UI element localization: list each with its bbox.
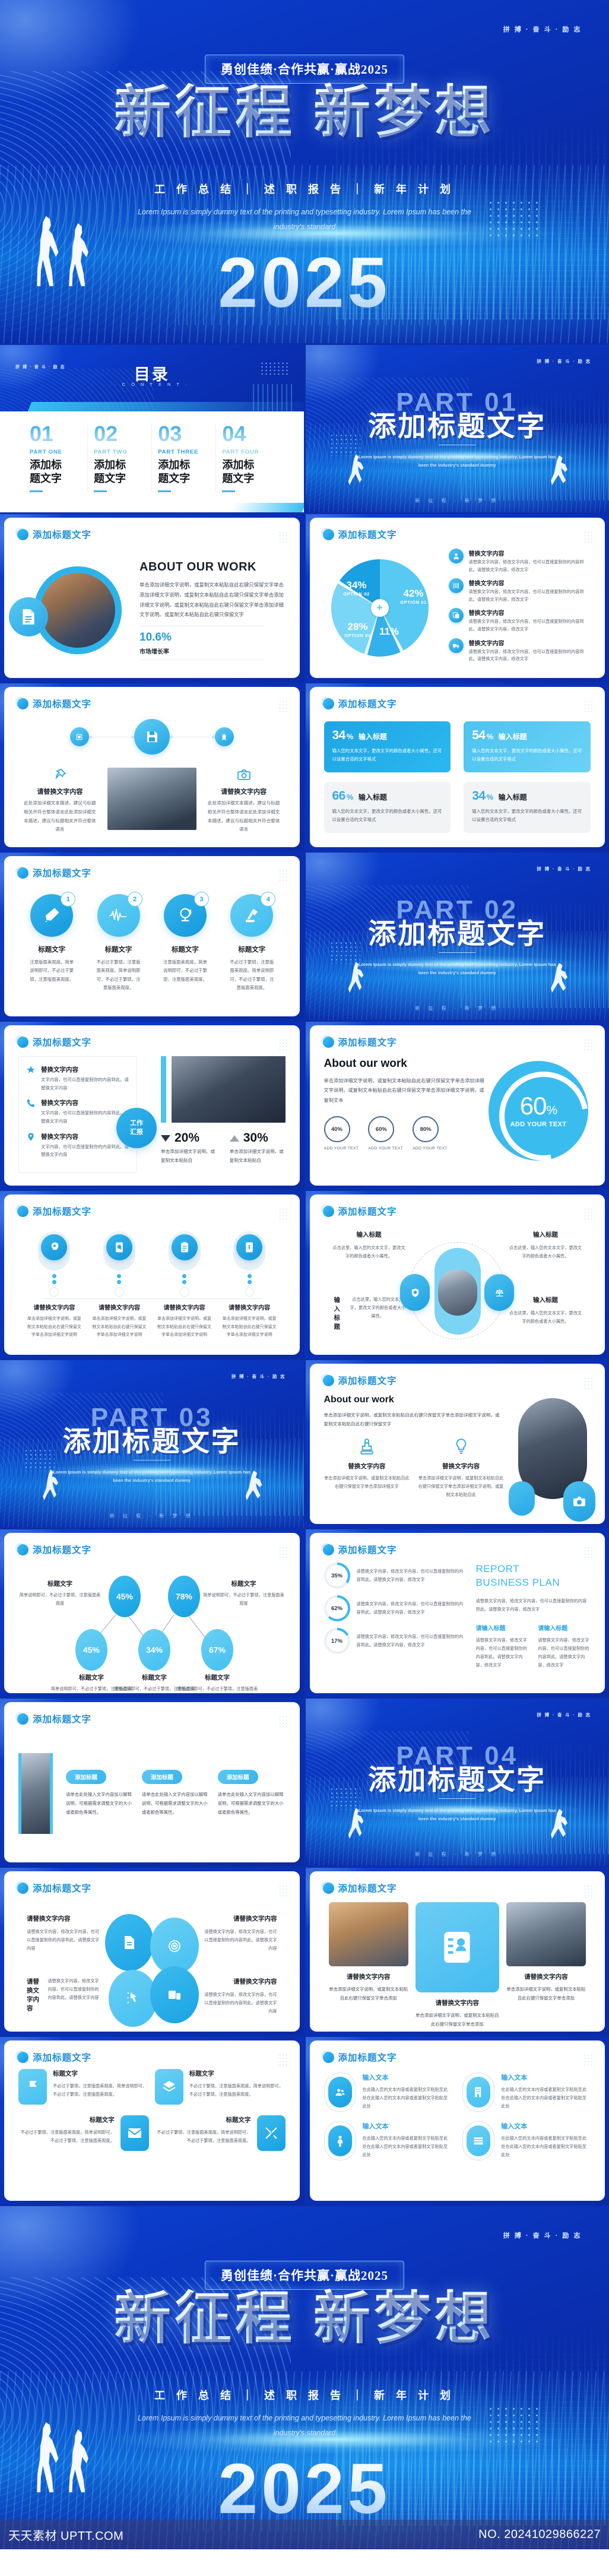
pie-value: 28% — [337, 621, 379, 633]
globe-icon: 3 — [164, 894, 207, 937]
document-icon[interactable] — [105, 1914, 154, 1971]
balance-scale-icon[interactable] — [484, 1274, 514, 1311]
ring-unit: % — [338, 1638, 342, 1645]
square-text[interactable]: 标题文字 不必过于繁琐，注意版面美观度。简单说明即可，不必过于繁琐，注意版面美观… — [18, 2115, 115, 2145]
step-item[interactable]: 请替换文字内容 单击添加详细文字说明，或复制文本粘贴自此右键只保留文字单击添加详… — [27, 1231, 82, 1339]
tools-icon[interactable] — [257, 2115, 286, 2151]
connector-line — [89, 737, 134, 737]
report-column[interactable]: 请输入标题 请替换文字内容，修改文字内容，也可以直接复制你的内容到此。请替换文字… — [476, 1623, 529, 1669]
petal-quadrant-bottom-right[interactable]: 请替换文字内容 请替换文字内容，修改文字内容，也可以直接复制你的内容到此。请替换… — [201, 1977, 277, 2016]
watermark-footer: 天天素材 UPTT.COM NO. 20241029866227 — [0, 2520, 609, 2549]
lamp-icon: 4 — [230, 894, 273, 937]
quadrant-desc: 点击这里，输入您的文本文字，更改文字的颜色或者大小属性。 — [507, 1309, 583, 1326]
report-heading-line1: REPORT — [476, 1563, 520, 1574]
dot-grid-decor — [583, 1884, 593, 1897]
bullet-dot-icon — [323, 698, 334, 709]
toc-number: 03 — [158, 423, 210, 445]
icon-circle-row: 1 标题文字 注意版面美观度。简单说明即可，不必过于繁琐，注意版面美观度。 2 … — [18, 894, 286, 993]
item-desc: 在此输入您的文本内容或者复制文字粘贴至此处在此输入您的文本内容或者复制文字粘贴至… — [501, 2086, 591, 2111]
plus-icon: + — [371, 599, 389, 617]
list-item[interactable]: 62% 请替换文字内容，修改文字内容，也可以直接复制你的内容到此。请替换文字内容… — [324, 1595, 467, 1621]
stat-card-grid: 34%输入标题 输入您的文本文字，更改文字的颜色或者大小属性。还可以设置合适的文… — [324, 721, 591, 833]
step-item[interactable]: 请替换文字内容 单击添加详细文字说明，或复制文本粘贴自此右键只保留文字单击添加详… — [222, 1231, 277, 1339]
star-icon — [26, 1065, 36, 1092]
quadrant-title: 请替换文字内容 — [201, 1977, 277, 1986]
photo-column[interactable]: 请替换文字内容 单击添加详细文字说明，或复制文本粘贴自此右键只保留文字单击添加 — [329, 1902, 408, 2003]
slide-header: 添加标题文字 — [17, 866, 91, 879]
dot-grid-decor — [583, 2054, 593, 2067]
slide-petal-quadrants[interactable]: 添加标题文字 请替换文字内容 请替换文字内容，修改文字内容，也可以直接复制你的内… — [0, 1868, 304, 2035]
step-number: 4 — [261, 892, 275, 907]
stat-value: 20% — [175, 1131, 199, 1145]
mail-icon[interactable] — [120, 2115, 149, 2151]
bullet-dot-icon — [17, 1544, 28, 1555]
section-title: 添加标题文字 — [0, 1418, 304, 1459]
toc-number: 02 — [94, 423, 145, 445]
quadrant-desc: 点击这里，输入您的文本文字，更改文字的颜色或者大小属性。 — [331, 1244, 407, 1260]
slide-header: 添加标题文字 — [323, 1881, 397, 1894]
toc-underline — [30, 490, 43, 492]
bullet-dot-icon — [17, 867, 28, 879]
column-title: 请替换文字内容 — [506, 1972, 586, 1981]
step-desc: 单击添加详细文字说明，或复制文本粘贴自此右键只保留文字单击添加详细文字说明 — [222, 1315, 277, 1339]
timeline-pin — [115, 1287, 124, 1297]
item-title: 替换文字内容 — [41, 1065, 129, 1074]
hero-year: 2025 — [218, 2453, 391, 2524]
camera-icon[interactable] — [563, 1481, 595, 1522]
pie-label-option-03: 28% OPTION 03 — [337, 621, 379, 638]
hero-title: 新征程 新梦想 — [0, 77, 609, 148]
column-desc: 此处添加详细文本描述，建议与标题相关并符合整体语言此处添加详细文本描述，建议与标… — [202, 799, 286, 834]
slide-section-part-01[interactable]: 拼 搏 · 奋 斗 · 励 志 PART 01 添加标题文字 Lorem Ips… — [306, 345, 609, 512]
quadrant-top-right[interactable]: 输入标题 点击这里，输入您的文本文字，更改文字的颜色或者大小属性。 — [507, 1230, 583, 1260]
item-title: 替换文字内容 — [41, 1132, 129, 1141]
slide-about-portrait[interactable]: 添加标题文字 About our work 单击添加详细文字说明，或复制文本粘贴… — [306, 1360, 609, 1528]
ring-unit: % — [338, 1573, 342, 1579]
quadrant-bottom-left[interactable]: 输入标题 点击这里，输入您的文本文字，更改文字的颜色或者大小属性。 — [331, 1295, 407, 1336]
column-desc: 单击添加详细文字说明，或复制文本粘贴自此右键只保留文字单击添加详细文字 — [324, 1474, 410, 1491]
about-heading: ABOUT OUR WORK — [139, 560, 286, 574]
square-text[interactable]: 标题文字 不必过于繁琐，注意版面美观度。简单说明即可，不必过于繁琐，注意版面美观… — [189, 2069, 286, 2099]
slide-title: 添加标题文字 — [33, 528, 91, 541]
step-number: 3 — [194, 892, 209, 907]
list-item[interactable]: 35% 请替换文字内容，修改文字内容，也可以直接复制你的内容到此。请替换文字内容… — [324, 1563, 467, 1589]
stat-row: 20% 单击添加详细文字说明，或复制文本粘贴自 30% 单击添加详细文字说明，或… — [161, 1131, 286, 1165]
bulb-icon — [418, 1438, 504, 1456]
toc-item-title: 添加标题文字 — [30, 458, 64, 485]
stamp-icon — [324, 1438, 410, 1456]
caret-up-icon — [230, 1135, 239, 1142]
slide-header: 添加标题文字 — [323, 2051, 397, 2064]
column-title: 请替换文字内容 — [202, 787, 286, 796]
slide-header: 添加标题文字 — [17, 1543, 91, 1556]
slide-title: 添加标题文字 — [338, 1374, 397, 1387]
list-item[interactable]: 替换文字内容 请替换文字内容，修改文字内容，也可以直接复制你的内容到此。请替换文… — [449, 578, 588, 603]
section-title: 添加标题文字 — [306, 1757, 609, 1798]
hero-tagline: 拼 搏 · 奋 斗 · 励 志 — [503, 24, 582, 34]
toc-part-label: PART FOUR — [222, 449, 274, 455]
toc-item-03[interactable]: 03 PART THREE 添加标题文字 — [152, 423, 216, 492]
step-item[interactable]: 请替换文字内容 单击添加详细文字说明，或复制文本粘贴自此右键只保留文字单击添加详… — [92, 1231, 147, 1339]
divider-rule — [439, 952, 475, 953]
center-photo — [434, 1248, 481, 1335]
slide-title: 添加标题文字 — [33, 1712, 91, 1725]
mini-ring-item[interactable]: 80% ADD YOUR TEXT — [413, 1116, 448, 1152]
slide-header: 添加标题文字 — [17, 528, 91, 541]
slide-three-node-timeline[interactable]: 添加标题文字 — [0, 683, 304, 851]
photo-frame-icon[interactable] — [70, 727, 89, 746]
bullet-dot-icon — [17, 1883, 28, 1894]
tag-badge[interactable]: 添加标题 — [66, 1770, 106, 1784]
slide-four-icon-circles[interactable]: 添加标题文字 1 标题文字 注意版面美观度。简单说明即可，不必过于繁琐，注意版面… — [0, 853, 304, 1020]
camera-icon — [202, 768, 286, 782]
dot-grid-decor — [278, 531, 288, 544]
hero-year: 2025 — [218, 247, 391, 318]
bubble-label: 标题文字 简单说明即可，不必过于繁琐，注意版面美观度 — [18, 1579, 101, 1608]
item-title: 替换文字内容 — [469, 638, 588, 647]
stat-card[interactable]: 34%输入标题 输入您的文本文字，更改文字的颜色或者大小属性。还可以设置合适的文… — [464, 782, 591, 833]
stat-value: 30% — [243, 1131, 268, 1145]
slide-header: 添加标题文字 — [323, 1543, 397, 1556]
slide-title: 添加标题文字 — [338, 697, 397, 710]
slide-title: 添加标题文字 — [338, 1205, 397, 1218]
ribbon-award-icon[interactable] — [215, 727, 234, 746]
petal-quadrant-top-left[interactable]: 请替换文字内容 请替换文字内容，修改文字内容，也可以直接复制你的内容到此。请替换… — [27, 1914, 103, 1953]
column-desc: 单击添加详细文字说明，或复制文本粘贴自此右键只保留文字单击添加 — [415, 2011, 499, 2029]
bubble-value[interactable]: 78% — [168, 1576, 200, 1617]
ring-icon-item[interactable]: 输入文本 在此输入您的文本内容或者复制文字粘贴至此处在此输入您的文本内容或者复制… — [462, 2121, 591, 2160]
report-column[interactable]: 请输入标题 请替换文字内容，修改文字内容，也可以直接复制你的内容到此。请替换文字… — [538, 1623, 591, 1669]
tag-column[interactable]: 添加标题 请单击此处输入文字内容加以解释说明，可根据需求调整文字的大小或者颜色等… — [218, 1770, 286, 1817]
ring-unit: % — [338, 1605, 342, 1612]
hero-tagline: 拼 搏 · 奋 斗 · 励 志 — [503, 2230, 582, 2240]
step-title: 请替换文字内容 — [157, 1303, 212, 1311]
list-item[interactable]: 替换文字内容 请替换文字内容，修改文字内容，也可以直接复制你的内容到此。请替换文… — [449, 638, 588, 663]
stat-card[interactable]: 66%输入标题 输入您的文本文字，更改文字的颜色或者大小属性。还可以设置合适的文… — [324, 782, 451, 833]
column-desc: 请单击此处输入文字内容加以解释说明，可根据需求调整文字的大小或者颜色等属性。 — [66, 1791, 134, 1817]
step-title: 请替换文字内容 — [27, 1303, 82, 1311]
bullet-dot-icon — [323, 2052, 334, 2063]
item-desc: 文字内容，也可以直接复制你的内容到此。请替换文字内容 — [41, 1109, 129, 1125]
slide-header: 添加标题文字 — [17, 1712, 91, 1725]
building-icon — [467, 2077, 490, 2108]
item-title: 标题文字 — [88, 945, 149, 954]
list-item[interactable]: 替换文字内容 文字内容，也可以直接复制你的内容到此。请替换文字内容 — [26, 1098, 129, 1125]
item-title: 输入文本 — [363, 2073, 452, 2082]
timeline-col-right[interactable]: 请替换文字内容 此处添加详细文本描述，建议与标题相关并符合整体语言此处添加详细文… — [202, 768, 286, 834]
stat-desc: 单击添加详细文字说明，或复制文本粘贴自 — [161, 1148, 217, 1165]
square-text[interactable]: 标题文字 不必过于繁琐，注意版面美观度。简单说明即可，不必过于繁琐，注意版面美观… — [53, 2069, 149, 2099]
ring-icon-item[interactable]: 输入文本 在此输入您的文本内容或者复制文字粘贴至此处在此输入您的文本内容或者复制… — [462, 2073, 591, 2112]
list-item[interactable]: 替换文字内容 请替换文字内容，修改文字内容，也可以直接复制你的内容到此。请替换文… — [449, 549, 588, 573]
quadrant-title: 输入标题 — [507, 1230, 583, 1239]
quadrant-bottom-right[interactable]: 输入标题 点击这里，输入您的文本文字，更改文字的颜色或者大小属性。 — [507, 1295, 583, 1326]
item-title: 替换文字内容 — [469, 578, 588, 587]
label-title: 标题文字 — [18, 1579, 101, 1588]
node-row — [18, 719, 286, 755]
pie-value: 42% — [392, 588, 436, 600]
slide-title: 添加标题文字 — [338, 1881, 397, 1894]
icon-circle-item[interactable]: 2 标题文字 不必过于繁琐，注意版面美观度。简单说明即可，不必过于繁琐，注意版面… — [88, 894, 149, 993]
dot-grid-decor — [278, 1715, 288, 1728]
flag-icon[interactable] — [18, 2069, 47, 2105]
hero-banner-bottom: 拼 搏 · 奋 斗 · 励 志 勇创佳绩·合作共赢·赢战2025 新征程 新梦想… — [0, 2206, 609, 2549]
team-photo — [34, 566, 122, 654]
slide-image-with-tags[interactable]: 添加标题文字 添加标题 请单击此处输入文字内容加以解释说明，可根据需求调整文字的… — [0, 1699, 304, 1866]
slide-header: 添加标题文字 — [17, 2051, 91, 2064]
photo-image — [329, 1902, 408, 1966]
pie-value: 34% — [334, 579, 380, 591]
section-title: 添加标题文字 — [306, 403, 609, 444]
item-title: 标题文字 — [221, 945, 283, 954]
stat-title: 输入标题 — [359, 731, 387, 742]
about-heading: About our work — [324, 1395, 505, 1405]
site-watermark: 天天素材 UPTT.COM — [8, 2526, 123, 2543]
mini-ring-value: 60% — [368, 1116, 394, 1142]
photo-with-bar — [161, 1056, 286, 1123]
step-number: 1 — [61, 892, 75, 907]
item-title: 标题文字 — [154, 945, 215, 954]
dot-grid-decor — [583, 1038, 593, 1051]
slide-title: 添加标题文字 — [33, 2051, 91, 2064]
ring-desc: 请替换文字内容，修改文字内容，也可以直接复制你的内容到此。请替换文字内容，修改文… — [357, 1633, 467, 1649]
mini-ring-row: 40% ADD YOUR TEXT 60% ADD YOUR TEXT 80% … — [324, 1116, 489, 1152]
report-heading-line2: BUSINESS PLAN — [476, 1577, 560, 1588]
people-icon — [328, 2077, 352, 2108]
bullet-dot-icon — [17, 698, 28, 709]
list-item[interactable]: 17% 请替换文字内容，修改文字内容，也可以直接复制你的内容到此。请替换文字内容… — [324, 1628, 467, 1654]
accent-stripe-decor — [230, 503, 303, 512]
step-desc: 单击添加详细文字说明，或复制文本粘贴自此右键只保留文字单击添加详细文字说明 — [27, 1315, 82, 1339]
accent-stripe-decor — [26, 402, 304, 411]
dot-grid-decor — [583, 700, 593, 713]
slide-rounded-square-icons[interactable]: 添加标题文字 标题文字 不必过于繁琐，注意版面美观度。简单说明即可，不必过于繁琐… — [0, 2037, 304, 2204]
tag-column[interactable]: 添加标题 请单击此处输入文字内容加以解释说明，可根据需求调整文字的大小或者颜色等… — [66, 1770, 134, 1817]
slide-four-ring-icons[interactable]: 添加标题文字 输入文本 在此输入您的文本内容或者复制文字粘贴至此处在此输入您的文… — [306, 2037, 609, 2204]
slide-title: 添加标题文字 — [33, 1035, 91, 1048]
step-title: 请替换文字内容 — [222, 1303, 277, 1311]
item-desc: 不必过于繁琐，注意版面美观度。简单说明即可，不必过于繁琐，注意版面美观度。 — [18, 2128, 115, 2145]
bullet-dot-icon — [323, 1375, 334, 1386]
donut-chart: 60% ADD YOUR TEXT — [489, 1061, 588, 1161]
bullet-dot-icon — [323, 1037, 334, 1048]
item-title: 替换文字内容 — [469, 549, 588, 557]
progress-ring-list: 35% 请替换文字内容，修改文字内容，也可以直接复制你的内容到此。请替换文字内容… — [324, 1563, 467, 1687]
bullet-dot-icon — [323, 1544, 334, 1555]
dot-grid-decor — [583, 531, 593, 544]
slide-header: 添加标题文字 — [17, 1881, 91, 1894]
phone-icon — [26, 1098, 36, 1125]
slide-section-part-04[interactable]: 拼 搏 · 奋 斗 · 励 志 PART 04 添加标题文字 Lorem Ips… — [306, 1699, 609, 1866]
toc-item-04[interactable]: 04 PART FOUR 添加标题文字 — [216, 423, 280, 492]
ring-icon-item[interactable]: 输入文本 在此输入您的文本内容或者复制文字粘贴至此处在此输入您的文本内容或者复制… — [324, 2073, 452, 2112]
percent-unit: % — [487, 732, 493, 741]
ring-icon-item[interactable]: 输入文本 在此输入您的文本内容或者复制文字粘贴至此处在此输入您的文本内容或者复制… — [324, 2121, 452, 2160]
photo-image — [18, 1753, 53, 1834]
stat-item[interactable]: 30% 单击添加详细文字说明，或复制文本粘贴自 — [230, 1131, 286, 1165]
item-title: 替换文字内容 — [469, 608, 588, 617]
bubble-value[interactable]: 34% — [138, 1629, 170, 1671]
divider-rule — [439, 445, 475, 445]
toc-item-title: 添加标题文字 — [222, 458, 256, 485]
quadrant-title: 请替换文字内容 — [27, 1977, 42, 2013]
books-icon — [467, 2125, 490, 2156]
quadrant-desc: 点击这里，输入您的文本文字，更改文字的颜色或者大小属性。 — [507, 1244, 583, 1260]
stat-block: 10.6% 市场增长率 — [139, 626, 265, 660]
petal-quadrant-top-right[interactable]: 请替换文字内容 请替换文字内容，修改文字内容，也可以直接复制你的内容到此。请替换… — [201, 1914, 277, 1953]
ring-value: 35 — [331, 1573, 338, 1579]
slide-bullets-and-stats[interactable]: 添加标题文字 替换文字内容 文字内容，也可以直接复制你的内容到此。请替换文字内容… — [0, 1022, 304, 1189]
pie-category: OPTION 02 — [334, 591, 380, 597]
divider-rule — [439, 1798, 475, 1799]
item-desc: 不必过于繁琐，注意版面美观度。简单说明即可，不必过于繁琐，注意版面美观度。 — [155, 2128, 251, 2145]
dot-grid-decor — [583, 1546, 593, 1559]
item-title: 标题文字 — [155, 2115, 251, 2124]
stat-desc: 输入您的文本文字，更改文字的颜色或者大小属性。还可以设置合适的文字格式 — [472, 747, 582, 764]
petal-cluster — [105, 1914, 199, 2027]
bubble-value[interactable]: 67% — [201, 1629, 233, 1671]
square-text[interactable]: 标题文字 不必过于繁琐，注意版面美观度。简单说明即可，不必过于繁琐，注意版面美观… — [155, 2115, 251, 2145]
column-title: 替换文字内容 — [324, 1462, 410, 1471]
toc-subtitle: · C O N T E N T · — [0, 382, 304, 387]
list-item[interactable]: 替换文字内容 请替换文字内容，修改文字内容，也可以直接复制你的内容到此。请替换文… — [449, 608, 588, 633]
quadrant-desc: 请替换文字内容，修改文字内容，也可以直接复制你的内容到此。请替换文字内容 — [27, 1928, 103, 1953]
toc-underline — [94, 490, 107, 492]
dot-grid-decor — [278, 869, 288, 882]
ring-icon-grid: 输入文本 在此输入您的文本内容或者复制文字粘贴至此处在此输入您的文本内容或者复制… — [324, 2073, 591, 2160]
petal-quadrant-bottom-left[interactable]: 请替换文字内容 请替换文字内容，修改文字内容，也可以直接复制你的内容到此。请替换… — [27, 1977, 103, 2017]
user-icon — [449, 549, 464, 563]
slide-title: 添加标题文字 — [33, 697, 91, 710]
icon-circle-item[interactable]: 1 标题文字 注意版面美观度。简单说明即可，不必过于繁琐，注意版面美观度。 — [21, 894, 83, 993]
accent-pill-decor — [509, 1481, 535, 1516]
slide-header: 添加标题文字 — [323, 1205, 397, 1218]
timeline-col-left[interactable]: 请替换文字内容 此处添加详细文本描述，建议与标题相关并符合整体语言此处添加详细文… — [18, 768, 101, 834]
slide-section-part-02[interactable]: 拼 搏 · 奋 斗 · 励 志 PART 02 添加标题文字 Lorem Ips… — [306, 853, 609, 1020]
toc-item-title: 添加标题文字 — [158, 458, 192, 485]
bullet-dot-icon — [323, 1883, 334, 1894]
slide-percentage-bubbles[interactable]: 添加标题文字 45% 78% 45% 34% 67% — [0, 1529, 304, 1697]
about-column[interactable]: 替换文字内容 单击添加详细文字说明，或复制文本粘贴自此右键只保留文字单击添加详细… — [418, 1438, 504, 1499]
icon-circle-item[interactable]: 4 标题文字 不必过于繁琐，注意版面美观度。简单说明即可，不必过于繁琐，注意版面… — [221, 894, 283, 993]
quadrant-top-left[interactable]: 输入标题 点击这里，输入您的文本文字，更改文字的颜色或者大小属性。 — [331, 1230, 407, 1260]
list-item[interactable]: 替换文字内容 文字内容，也可以直接复制你的内容到此。请替换文字内容 — [26, 1065, 129, 1092]
step-item[interactable]: 请替换文字内容 单击添加详细文字说明，或复制文本粘贴自此右键只保留文字单击添加详… — [157, 1231, 212, 1339]
pie-legend-list: 替换文字内容 请替换文字内容，修改文字内容，也可以直接复制你的内容到此。请替换文… — [446, 546, 591, 672]
slide-three-photos[interactable]: 添加标题文字 请替换文字内容 单击添加详细文字说明，或复制文本粘贴自此右键只保留… — [306, 1868, 609, 2035]
donut-body: 单击添加详细文字说明，或复制文本粘贴自此右键只保留文字单击添加详细文字说明，或复… — [324, 1076, 489, 1105]
slide-about-our-work[interactable]: 添加标题文字 — [0, 514, 304, 682]
slide-title: 添加标题文字 — [338, 2051, 397, 2064]
tag-column[interactable]: 添加标题 请单击此处输入文字内容加以解释说明，可根据需求调整文字的大小或者颜色等… — [142, 1770, 210, 1817]
dot-grid-decor — [583, 1377, 593, 1390]
section-title: 添加标题文字 — [306, 911, 609, 952]
ppt-template-preview-page: 拼 搏 · 奋 斗 · 励 志 勇创佳绩·合作共赢·赢战2025 新征程 新梦想… — [0, 0, 609, 2549]
layers-icon[interactable] — [155, 2069, 183, 2105]
slide-hub-four-quadrants[interactable]: 添加标题文字 输入标题 点击这里，输入您的文本文字，更改文字的颜色或者大小属性。… — [306, 1191, 609, 1358]
devices-icon[interactable] — [150, 1966, 199, 2023]
column-desc: 请单击此处输入文字内容加以解释说明，可根据需求调整文字的大小或者颜色等属性。 — [218, 1791, 286, 1817]
slide-thumbnail-grid: 拼 搏 · 奋 斗 · 励 志 目录 · C O N T E N T · 01 … — [0, 343, 609, 2206]
slide-title: 添加标题文字 — [33, 1543, 91, 1556]
toc-underline — [222, 490, 235, 492]
column-title: 替换文字内容 — [418, 1462, 504, 1471]
column-title: 请输入标题 — [538, 1623, 591, 1632]
label-title: 标题文字 — [176, 1673, 259, 1682]
hero-description: Lorem Ipsum is simply dummy text of the … — [0, 2411, 609, 2441]
slide-four-step-timeline[interactable]: 添加标题文字 请替换文字内容 单击添加详细文字说明，或复制文本粘贴自此右键只保留… — [0, 1191, 304, 1358]
tag-badge[interactable]: 添加标题 — [142, 1770, 182, 1784]
pencil-icon: 1 — [30, 894, 73, 937]
section-footer-text: 新 征 程 · 新 梦 想 — [306, 1005, 609, 1012]
dot-grid-decor — [278, 1038, 288, 1051]
asset-number: NO. 20241029866227 — [478, 2528, 601, 2542]
stat-card[interactable]: 34%输入标题 输入您的文本文字，更改文字的颜色或者大小属性。还可以设置合适的文… — [324, 721, 451, 772]
quadrant-title: 输入标题 — [331, 1295, 344, 1331]
item-desc: 在此输入您的文本内容或者复制文字粘贴至此处在此输入您的文本内容或者复制文字粘贴至… — [363, 2086, 452, 2111]
ring-desc: 请替换文字内容，修改文字内容，也可以直接复制你的内容到此。请替换文字内容，修改文… — [357, 1600, 467, 1617]
item-title: 输入文本 — [501, 2121, 591, 2131]
label-title: 标题文字 — [202, 1579, 286, 1588]
item-title: 输入文本 — [501, 2073, 591, 2082]
item-desc: 文字内容，也可以直接复制你的内容到此。请替换文字内容 — [41, 1076, 129, 1092]
photo-image — [506, 1902, 586, 1966]
bubble-label: 标题文字 简单说明即可，不必过于繁琐，注意版面美观度 — [176, 1673, 259, 1693]
caret-down-icon — [161, 1135, 170, 1142]
slide-pie-chart[interactable]: 添加标题文字 + 42% OPTION 01 34% OPTION 02 — [306, 514, 609, 682]
stat-desc: 输入您的文本文字，更改文字的颜色或者大小属性。还可以设置合适的文字格式 — [332, 807, 443, 825]
tag-badge[interactable]: 添加标题 — [218, 1770, 258, 1784]
slide-table-of-contents[interactable]: 拼 搏 · 奋 斗 · 励 志 目录 · C O N T E N T · 01 … — [0, 345, 304, 512]
slide-title: 添加标题文字 — [338, 1543, 397, 1556]
slide-section-part-03[interactable]: 拼 搏 · 奋 斗 · 励 志 PART 03 添加标题文字 Lorem Ips… — [0, 1360, 304, 1528]
toc-item-02[interactable]: 02 PART TWO 添加标题文字 — [88, 423, 152, 492]
dot-grid-decor — [278, 1884, 288, 1897]
list-item[interactable]: 替换文字内容 文字内容，也可以直接复制你的内容到此。请替换文字内容 — [26, 1132, 129, 1159]
slide-donut-chart[interactable]: 添加标题文字 About our work 单击添加详细文字说明，或复制文本粘贴… — [306, 1022, 609, 1189]
toc-item-01[interactable]: 01 PART ONE 添加标题文字 — [24, 423, 88, 492]
photo-column[interactable]: 请替换文字内容 单击添加详细文字说明，或复制文本粘贴自此右键只保留文字单击添加 — [506, 1902, 586, 2003]
ring-desc: 请替换文字内容，修改文字内容，也可以直接复制你的内容到此。请替换文字内容，修改文… — [357, 1567, 467, 1584]
item-desc: 不必过于繁琐，注意版面美观度。简单说明即可，不必过于繁琐，注意版面美观度。 — [53, 2082, 149, 2099]
about-column[interactable]: 替换文字内容 单击添加详细文字说明，或复制文本粘贴自此右键只保留文字单击添加详细… — [324, 1438, 410, 1499]
bubble-value[interactable]: 45% — [75, 1629, 107, 1671]
slide-report-business-plan[interactable]: 添加标题文字 35% 请替换文字内容，修改文字内容，也可以直接复制你的内容到此。… — [306, 1529, 609, 1697]
slide-title: 添加标题文字 — [33, 1881, 91, 1894]
icon-circle-item[interactable]: 3 标题文字 注意版面美观度。简单说明即可，不必过于繁琐，注意版面美观度。 — [154, 894, 215, 993]
shield-icon[interactable] — [400, 1274, 430, 1311]
person-icon — [328, 2125, 352, 2156]
slide-header: 添加标题文字 — [323, 697, 397, 710]
stat-item[interactable]: 20% 单击添加详细文字说明，或复制文本粘贴自 — [161, 1131, 217, 1165]
item-desc: 请替换文字内容，修改文字内容，也可以直接复制你的内容到此。请替换文字内容，修改文… — [469, 648, 588, 663]
bullet-dot-icon — [17, 1037, 28, 1048]
slide-stat-cards[interactable]: 添加标题文字 34%输入标题 输入您的文本文字，更改文字的颜色或者大小属性。还可… — [306, 683, 609, 851]
clipboard-icon — [172, 1234, 198, 1260]
mini-ring-value: 80% — [413, 1116, 439, 1142]
work-report-badge[interactable]: 工作 汇报 — [116, 1108, 157, 1148]
item-desc: 在此输入您的文本内容或者复制文字粘贴至此处在此输入您的文本内容或者复制文字粘贴至… — [363, 2134, 452, 2159]
photo-image — [107, 768, 196, 830]
save-disk-icon[interactable] — [134, 719, 170, 755]
stat-card[interactable]: 54%输入标题 输入您的文本文字，更改文字的颜色或者大小属性。还可以设置合适的文… — [464, 721, 591, 772]
stat-desc: 输入您的文本文字，更改文字的颜色或者大小属性。还可以设置合适的文字格式 — [472, 807, 582, 825]
mini-ring-item[interactable]: 60% ADD YOUR TEXT — [368, 1116, 403, 1152]
label-desc: 简单说明即可，不必过于繁琐，注意版面美观度 — [202, 1592, 286, 1608]
center-highlight-column[interactable]: 请替换文字内容 单击添加详细文字说明，或复制文本粘贴自此右键只保留文字单击添加 — [415, 1902, 499, 2029]
mini-ring-item[interactable]: 40% ADD YOUR TEXT — [324, 1116, 359, 1152]
bubble-value[interactable]: 45% — [109, 1576, 141, 1617]
